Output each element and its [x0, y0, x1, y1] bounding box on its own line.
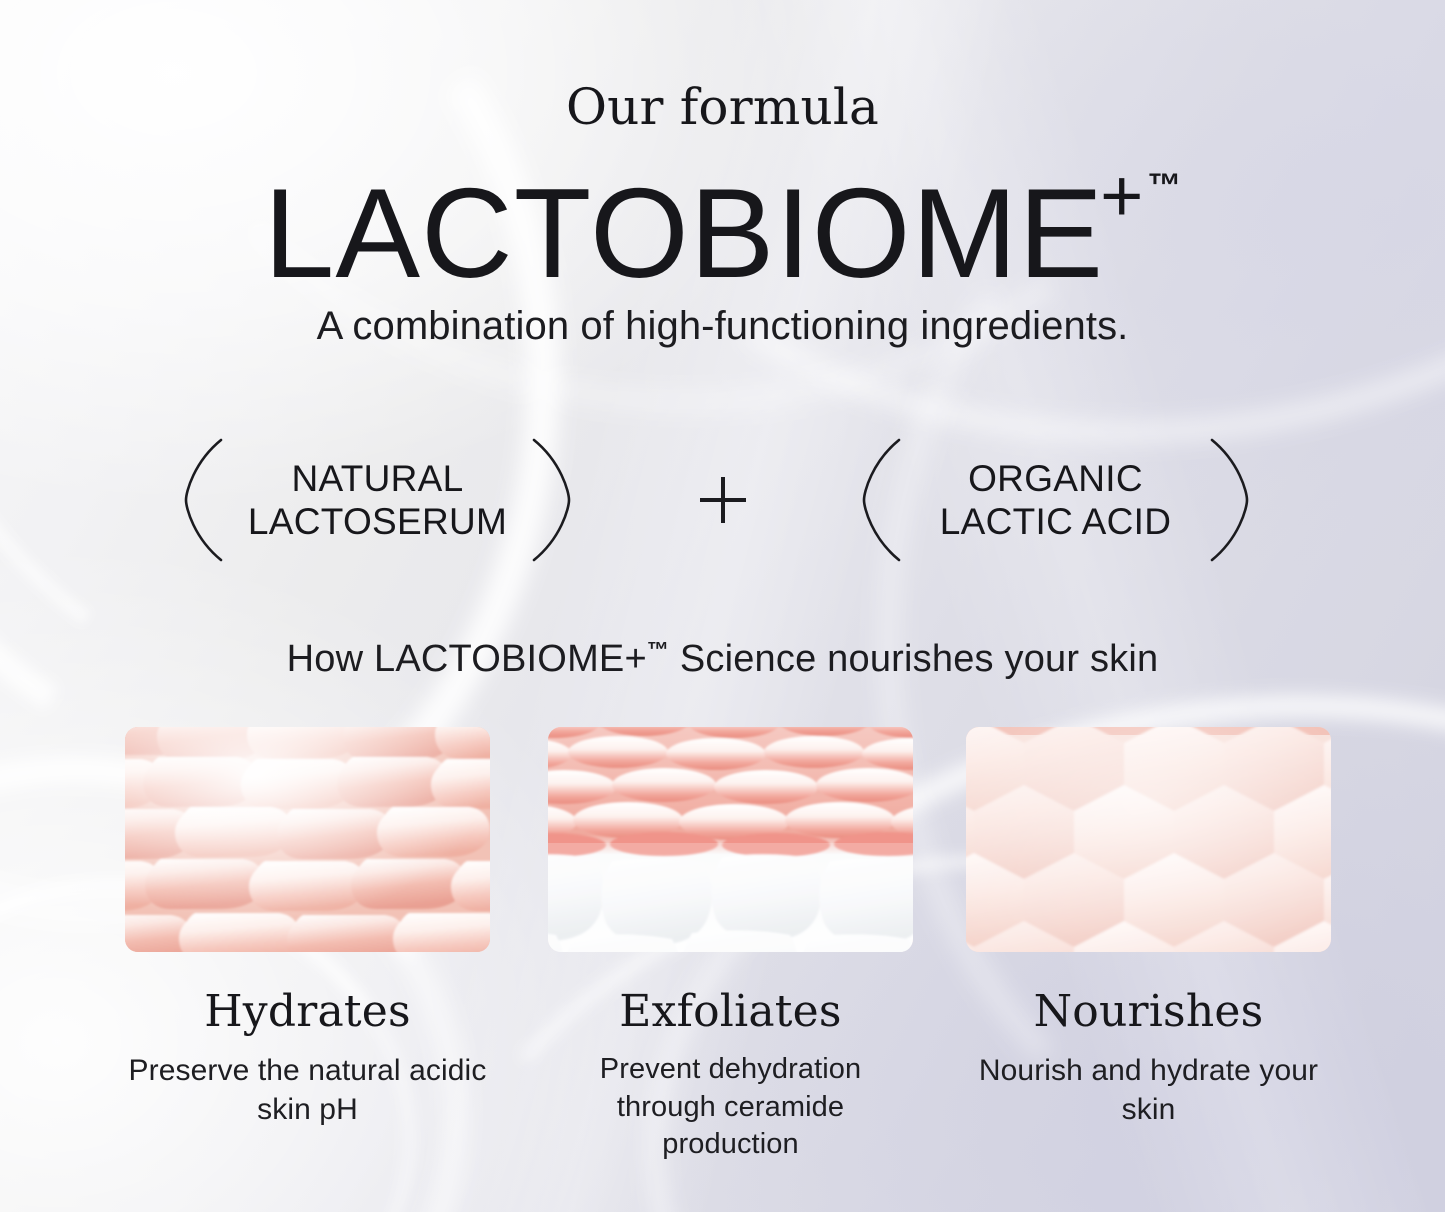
ingredient-right-label: ORGANIC LACTIC ACID — [896, 457, 1216, 544]
ingredient-left-line1: NATURAL — [248, 457, 507, 500]
eyebrow-text: Our formula — [0, 78, 1445, 136]
how-science-headline: How LACTOBIOME+™ Science nourishes your … — [0, 637, 1445, 681]
infographic-canvas: Our formula LACTOBIOME+™ A combination o… — [0, 0, 1445, 1212]
pale-pink-honeycomb-cells-image — [966, 727, 1331, 952]
how-headline-trademark-symbol: ™ — [647, 637, 669, 662]
ingredient-left-line2: LACTOSERUM — [248, 500, 507, 543]
ingredient-left-label: NATURAL LACTOSERUM — [204, 457, 551, 544]
benefit-description: Nourish and hydrate your skin — [966, 1051, 1331, 1129]
wordmark-trademark-symbol: ™ — [1147, 167, 1181, 205]
benefit-description: Prevent dehydration through ceramide pro… — [548, 1051, 913, 1164]
benefit-title: Nourishes — [966, 986, 1331, 1037]
wordmark-main-text: LACTOBIOME — [264, 162, 1104, 304]
ingredient-organic-lactic-acid: ORGANIC LACTIC ACID — [858, 425, 1253, 575]
benefit-description: Preserve the natural acidic skin pH — [125, 1051, 490, 1129]
benefit-title: Hydrates — [125, 986, 490, 1037]
ingredient-natural-lactoserum: NATURAL LACTOSERUM — [180, 425, 575, 575]
how-headline-after: Science nourishes your skin — [669, 638, 1158, 680]
ingredient-plus-separator-icon — [700, 477, 746, 523]
benefit-card-nourishes: Nourishes Nourish and hydrate your skin — [966, 727, 1331, 1129]
subtitle-text: A combination of high-functioning ingred… — [0, 304, 1445, 349]
ingredient-right-line2: LACTIC ACID — [940, 500, 1172, 543]
ingredient-right-line1: ORGANIC — [940, 457, 1172, 500]
pink-cell-cluster-image — [125, 727, 490, 952]
how-headline-before: How LACTOBIOME+ — [287, 638, 647, 680]
wordmark-plus-symbol: + — [1100, 154, 1143, 237]
brand-wordmark: LACTOBIOME+™ — [0, 153, 1445, 297]
benefit-card-hydrates: Hydrates Preserve the natural acidic ski… — [125, 727, 490, 1129]
benefit-title: Exfoliates — [548, 986, 913, 1037]
pink-white-cell-layers-image — [548, 727, 913, 952]
ingredients-row: NATURAL LACTOSERUM ORGANIC — [0, 425, 1445, 575]
benefit-card-exfoliates: Exfoliates Prevent dehydration through c… — [548, 727, 913, 1164]
